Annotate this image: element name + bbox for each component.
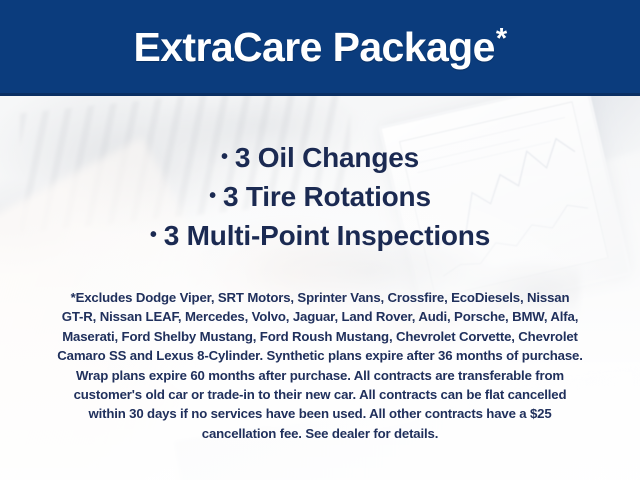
disclaimer-line: customer's old car or trade-in to their …	[20, 385, 620, 404]
bullet-icon: •	[209, 185, 216, 207]
list-item: •3 Multi-Point Inspections	[0, 216, 640, 255]
disclaimer-line: *Excludes Dodge Viper, SRT Motors, Sprin…	[20, 288, 620, 307]
disclaimer-line: Maserati, Ford Shelby Mustang, Ford Rous…	[20, 327, 620, 346]
benefits-list: •3 Oil Changes •3 Tire Rotations •3 Mult…	[0, 138, 640, 255]
page-title-text: ExtraCare Package	[133, 24, 494, 70]
disclaimer-line: Wrap plans expire 60 months after purcha…	[20, 366, 620, 385]
bullet-icon: •	[150, 224, 157, 246]
page-title: ExtraCare Package*	[133, 25, 506, 68]
list-item: •3 Oil Changes	[0, 138, 640, 177]
disclaimer-line: GT-R, Nissan LEAF, Mercedes, Volvo, Jagu…	[20, 307, 620, 326]
header-banner: ExtraCare Package*	[0, 0, 640, 96]
disclaimer-text: *Excludes Dodge Viper, SRT Motors, Sprin…	[20, 288, 620, 443]
disclaimer-line: Camaro SS and Lexus 8-Cylinder. Syntheti…	[20, 346, 620, 365]
list-item-label: 3 Oil Changes	[235, 142, 419, 173]
disclaimer-line: cancellation fee. See dealer for details…	[20, 424, 620, 443]
list-item-label: 3 Multi-Point Inspections	[164, 220, 490, 251]
list-item-label: 3 Tire Rotations	[223, 181, 431, 212]
title-asterisk: *	[496, 23, 507, 55]
list-item: •3 Tire Rotations	[0, 177, 640, 216]
bullet-icon: •	[221, 146, 228, 168]
disclaimer-line: within 30 days if no services have been …	[20, 404, 620, 423]
extracare-package-ad: ExtraCare Package* •3 Oil Changes •3 Tir…	[0, 0, 640, 480]
